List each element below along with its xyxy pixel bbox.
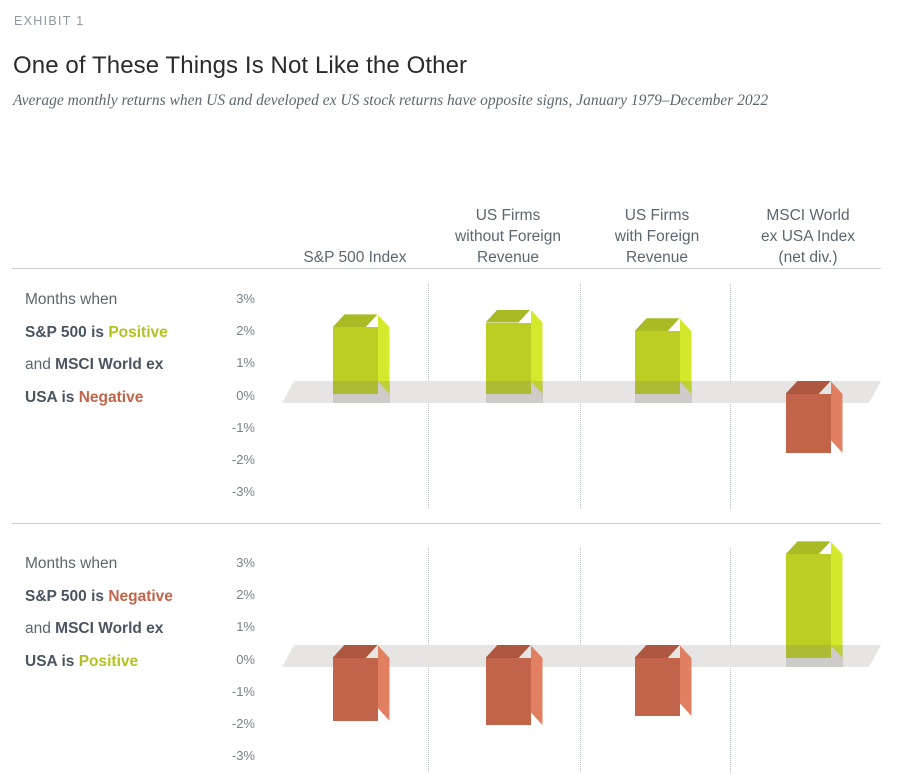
bar-side-face (378, 645, 390, 721)
row-label-segment-pos: Positive (79, 653, 138, 670)
bar-negative (635, 658, 680, 716)
row-label-line: and MSCI World ex (25, 613, 225, 646)
y-axis-tick-label: -3% (215, 749, 255, 762)
baseline-overlay (786, 645, 843, 667)
y-axis-tick-label: 1% (215, 620, 255, 633)
bar-front-face (486, 658, 531, 725)
y-axis-tick-label: -2% (215, 717, 255, 730)
bar-side-face (831, 541, 843, 658)
row-label-segment-em: S&P 500 is (25, 588, 108, 605)
row-label-segment-plain: and (25, 620, 55, 637)
bar-front-face (333, 658, 378, 721)
row-label-line: S&P 500 is Negative (25, 581, 225, 614)
bar-positive (786, 554, 831, 658)
row-label-2: Months whenS&P 500 is Negativeand MSCI W… (25, 548, 225, 678)
row-label-line: USA is Positive (25, 646, 225, 679)
bar-front-face (786, 554, 831, 658)
bar-side-face (531, 645, 543, 725)
row-label-segment-em: USA is (25, 653, 79, 670)
y-axis-tick-label: 2% (215, 588, 255, 601)
bar-front-face (635, 658, 680, 716)
y-axis-tick-label: 0% (215, 653, 255, 666)
bar-negative (333, 658, 378, 721)
bar-top-face (786, 541, 831, 554)
row-label-segment-neg: Negative (108, 588, 173, 605)
y-axis-tick-label: 3% (215, 556, 255, 569)
panel-negative-sp500: Months whenS&P 500 is Negativeand MSCI W… (0, 0, 909, 775)
row-label-line: Months when (25, 548, 225, 581)
y-axis-tick-label: -1% (215, 685, 255, 698)
bar-negative (486, 658, 531, 725)
row-label-segment-em: MSCI World ex (55, 620, 163, 637)
row-label-segment-plain: Months when (25, 555, 117, 572)
